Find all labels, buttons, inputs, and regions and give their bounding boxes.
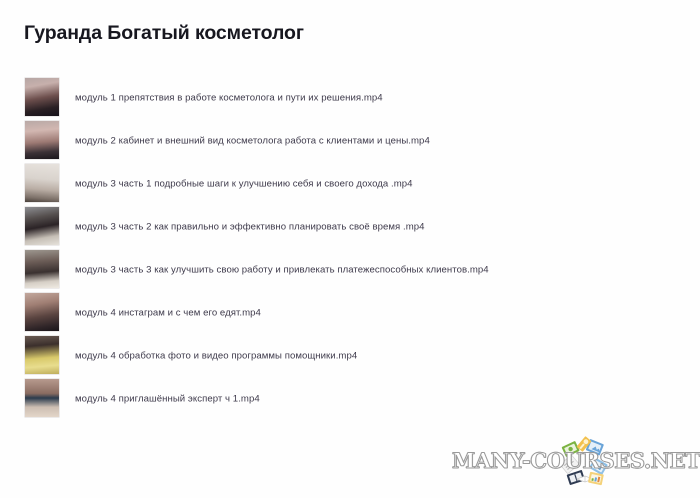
woman-dark-top-portrait-thumbnail[interactable] (25, 78, 59, 116)
file-row[interactable]: модуль 3 часть 3 как улучшить свою работ… (0, 248, 700, 291)
woman-yellow-top-portrait-thumbnail[interactable] (25, 336, 59, 374)
woman-off-shoulder-portrait-thumbnail[interactable] (25, 121, 59, 159)
thumbnail-image (25, 121, 59, 159)
file-row[interactable]: модуль 3 часть 2 как правильно и эффекти… (0, 205, 700, 248)
woman-closeup-dark-hair-thumbnail[interactable] (25, 293, 59, 331)
thumbnail-image (25, 293, 59, 331)
woman-white-jacket-portrait-thumbnail[interactable] (25, 207, 59, 245)
file-name-label: модуль 2 кабинет и внешний вид косметоло… (75, 135, 430, 146)
thumbnail-image (25, 207, 59, 245)
page-title: Гуранда Богатый косметолог (24, 22, 304, 45)
thumbnail-image (25, 78, 59, 116)
file-name-label: модуль 3 часть 1 подробные шаги к улучше… (75, 178, 413, 189)
file-name-label: модуль 3 часть 2 как правильно и эффекти… (75, 221, 425, 232)
thumbnail-image (25, 336, 59, 374)
thumbnail-image (25, 164, 59, 202)
file-name-label: модуль 4 приглашённый эксперт ч 1.mp4 (75, 393, 260, 404)
page-root: Гуранда Богатый косметолог модуль 1 преп… (0, 0, 700, 498)
file-row[interactable]: модуль 4 обработка фото и видео программ… (0, 334, 700, 377)
woman-gesturing-white-top-thumbnail[interactable] (25, 250, 59, 288)
file-name-label: модуль 1 препятствия в работе косметолог… (75, 92, 383, 103)
watermark: MANY-COURSES.NET (452, 430, 692, 492)
thumbnail-image (25, 250, 59, 288)
file-name-label: модуль 3 часть 3 как улучшить свою работ… (75, 264, 489, 275)
split-screen-video-call-thumbnail[interactable] (25, 379, 59, 417)
file-name-label: модуль 4 обработка фото и видео программ… (75, 350, 357, 361)
file-row[interactable]: модуль 4 инстаграм и с чем его едят.mp4 (0, 291, 700, 334)
file-list: модуль 1 препятствия в работе косметолог… (0, 76, 700, 420)
watermark-text: MANY-COURSES.NET (452, 448, 692, 473)
thumbnail-image (25, 379, 59, 417)
hand-holding-bottle-curtain-thumbnail[interactable] (25, 164, 59, 202)
file-row[interactable]: модуль 1 препятствия в работе косметолог… (0, 76, 700, 119)
file-row[interactable]: модуль 2 кабинет и внешний вид косметоло… (0, 119, 700, 162)
file-row[interactable]: модуль 3 часть 1 подробные шаги к улучше… (0, 162, 700, 205)
file-row[interactable]: модуль 4 приглашённый эксперт ч 1.mp4 (0, 377, 700, 420)
file-name-label: модуль 4 инстаграм и с чем его едят.mp4 (75, 307, 261, 318)
